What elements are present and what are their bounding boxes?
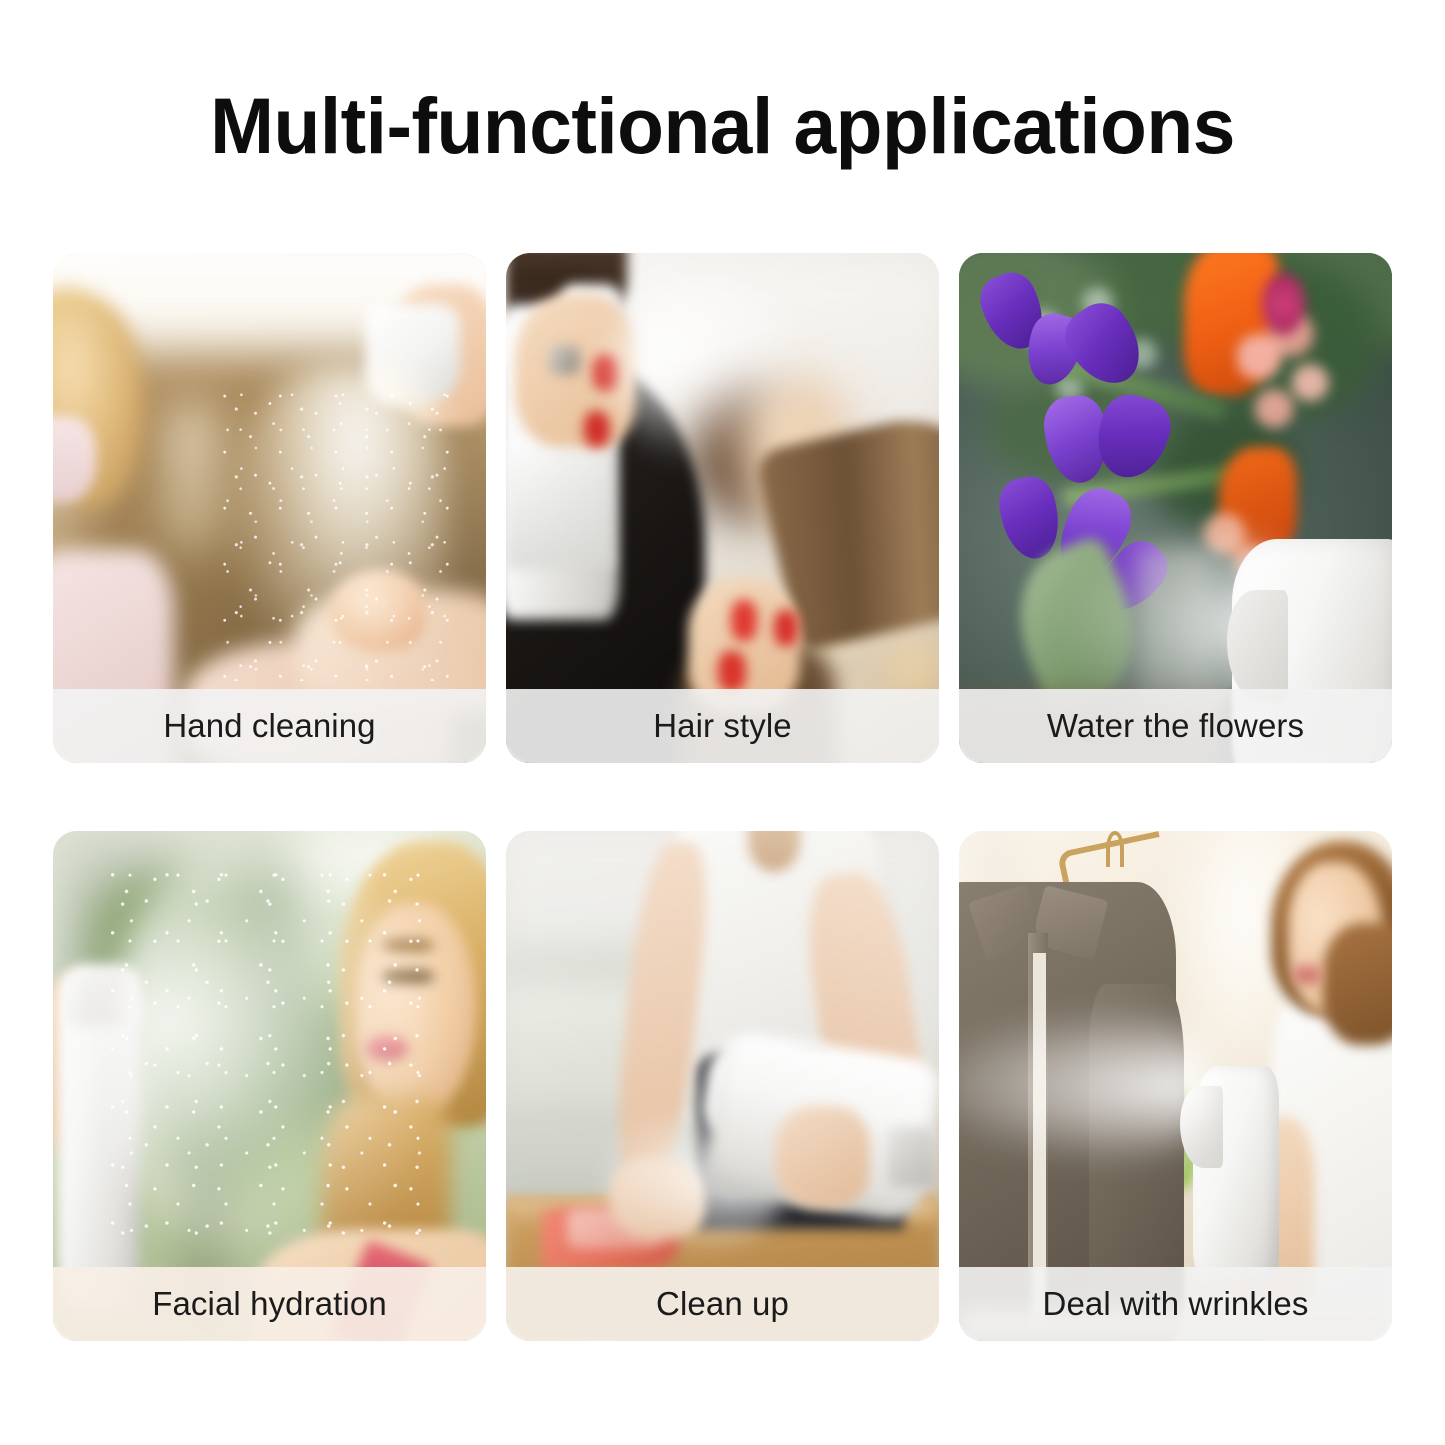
photo-facial-hydration — [53, 831, 486, 1341]
bottle-liquid — [506, 437, 614, 570]
caption-clean-up: Clean up — [506, 1267, 939, 1341]
photo-clean-up — [506, 831, 939, 1341]
caption-hair-style: Hair style — [506, 689, 939, 763]
application-card-clean-up[interactable]: Clean up — [506, 831, 939, 1341]
mist-droplets — [105, 862, 425, 1250]
sprayer-trigger — [1227, 590, 1288, 702]
page-title: Multi-functional applications — [22, 86, 1424, 165]
bottle-cap — [887, 1127, 935, 1188]
caption-deal-with-wrinkles: Deal with wrinkles — [959, 1267, 1392, 1341]
red-nail — [774, 610, 798, 646]
red-nail — [584, 411, 610, 447]
application-card-deal-with-wrinkles[interactable]: Deal with wrinkles — [959, 831, 1392, 1341]
background-doorway — [166, 406, 218, 549]
red-nail — [718, 651, 746, 692]
application-card-hand-cleaning[interactable]: Hand cleaning — [53, 253, 486, 763]
pink-blossoms — [1236, 314, 1331, 457]
spray-mist — [610, 284, 809, 457]
caption-water-the-flowers: Water the flowers — [959, 689, 1392, 763]
holding-hand — [774, 1106, 869, 1208]
finger-ring — [549, 345, 579, 376]
red-nail — [731, 600, 757, 641]
application-card-water-the-flowers[interactable]: Water the flowers — [959, 253, 1392, 763]
photo-water-the-flowers — [959, 253, 1392, 763]
application-card-facial-hydration[interactable]: Facial hydration — [53, 831, 486, 1341]
woman-lips — [1292, 964, 1322, 984]
application-grid: Hand cleaning — [53, 253, 1393, 1341]
magenta-flower — [1262, 273, 1305, 334]
spray-mist — [959, 1015, 1210, 1158]
caption-hand-cleaning: Hand cleaning — [53, 689, 486, 763]
mist-droplets — [218, 386, 460, 682]
photo-deal-with-wrinkles — [959, 831, 1392, 1341]
infographic-page: Multi-functional applications Ha — [0, 0, 1445, 1445]
photo-hand-cleaning — [53, 253, 486, 763]
woman-hair-side — [1323, 923, 1392, 1045]
caption-facial-hydration: Facial hydration — [53, 1267, 486, 1341]
photo-hair-style — [506, 253, 939, 763]
application-card-hair-style[interactable]: Hair style — [506, 253, 939, 763]
